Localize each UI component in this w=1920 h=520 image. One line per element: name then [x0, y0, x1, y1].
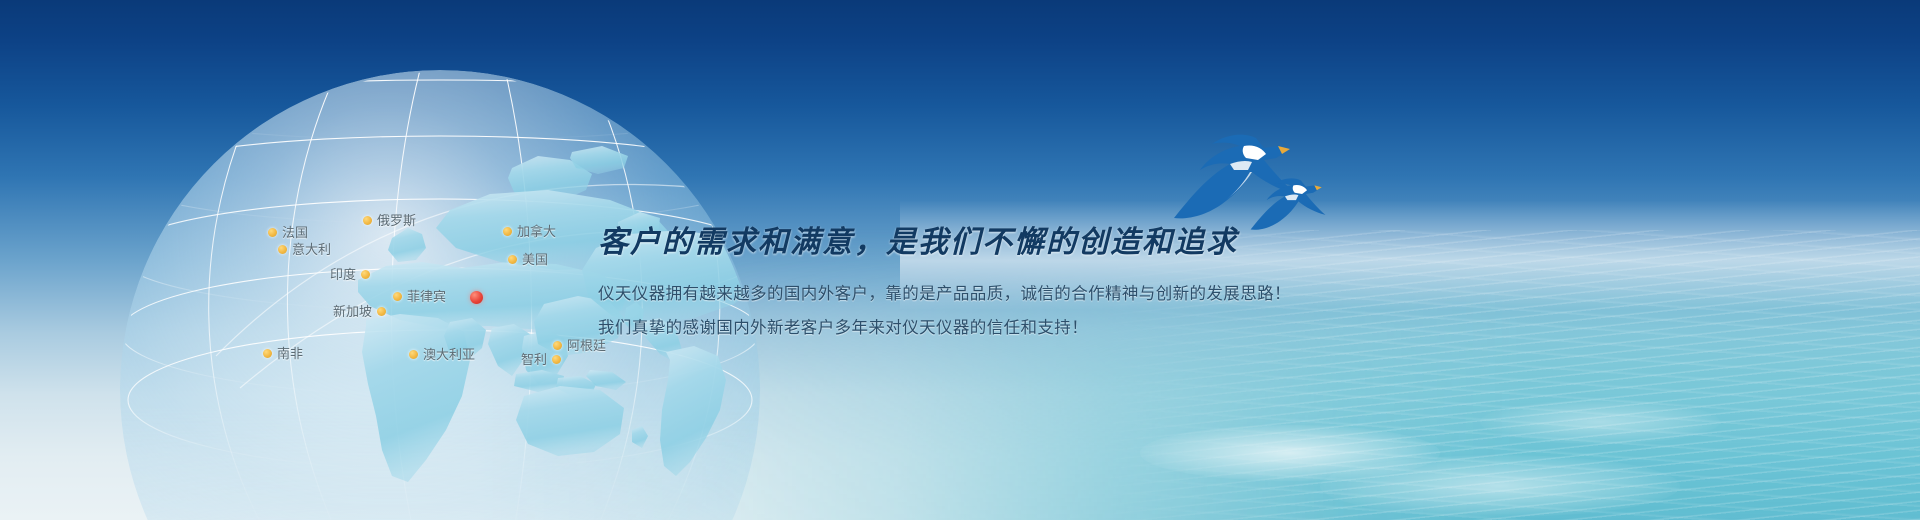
seagull-small — [1242, 176, 1334, 234]
marker-label: 加拿大 — [517, 225, 556, 238]
marker-dot-icon — [263, 349, 272, 358]
map-marker-south-africa: 南非 — [263, 347, 303, 360]
marker-label: 法国 — [282, 226, 308, 239]
marker-dot-icon — [393, 292, 402, 301]
map-marker-china — [470, 291, 483, 304]
aircraft-carrier-illustration — [1360, 175, 1920, 520]
marker-dot-icon — [278, 245, 287, 254]
map-marker-australia: 澳大利亚 — [409, 348, 475, 361]
map-marker-argentina: 阿根廷 — [553, 339, 606, 352]
banner-body-line-1: 仪天仪器拥有越来越多的国内外客户，靠的是产品品质，诚信的合作精神与创新的发展思路… — [598, 285, 1238, 305]
hero-banner: 法国 意大利 俄罗斯 印度 菲律宾 新加坡 南非 澳大利亚 加拿大 美国 智利 — [0, 0, 1920, 520]
map-marker-france: 法国 — [268, 226, 308, 239]
marker-dot-icon — [268, 228, 277, 237]
marker-label: 澳大利亚 — [423, 348, 475, 361]
banner-copy-block: 客户的需求和满意，是我们不懈的创造和追求 仪天仪器拥有越来越多的国内外客户，靠的… — [598, 224, 1238, 339]
marker-label: 意大利 — [292, 243, 331, 256]
map-marker-italy: 意大利 — [278, 243, 331, 256]
marker-label: 俄罗斯 — [377, 214, 416, 227]
marker-dot-icon — [508, 255, 517, 264]
map-marker-singapore: 新加坡 — [333, 305, 386, 318]
marker-label: 美国 — [522, 253, 548, 266]
marker-dot-icon — [503, 227, 512, 236]
seagull-small-icon — [1242, 176, 1334, 234]
map-marker-chile: 智利 — [521, 353, 561, 366]
marker-label: 印度 — [330, 268, 356, 281]
map-marker-canada: 加拿大 — [503, 225, 556, 238]
marker-dot-highlight-icon — [470, 291, 483, 304]
marker-label: 南非 — [277, 347, 303, 360]
marker-dot-icon — [552, 355, 561, 364]
banner-headline: 客户的需求和满意，是我们不懈的创造和追求 — [598, 224, 1238, 262]
marker-dot-icon — [553, 341, 562, 350]
marker-label: 智利 — [521, 353, 547, 366]
marker-dot-icon — [377, 307, 386, 316]
map-marker-russia: 俄罗斯 — [363, 214, 416, 227]
map-marker-philippines: 菲律宾 — [393, 290, 446, 303]
marker-label: 新加坡 — [333, 305, 372, 318]
map-marker-usa: 美国 — [508, 253, 548, 266]
aircraft-carrier — [1360, 175, 1920, 520]
marker-label: 菲律宾 — [407, 290, 446, 303]
map-marker-india: 印度 — [330, 268, 370, 281]
marker-dot-icon — [363, 216, 372, 225]
marker-dot-icon — [409, 350, 418, 359]
banner-body-line-2: 我们真挚的感谢国内外新老客户多年来对仪天仪器的信任和支持！ — [598, 319, 1238, 339]
marker-dot-icon — [361, 270, 370, 279]
marker-label: 阿根廷 — [567, 339, 606, 352]
